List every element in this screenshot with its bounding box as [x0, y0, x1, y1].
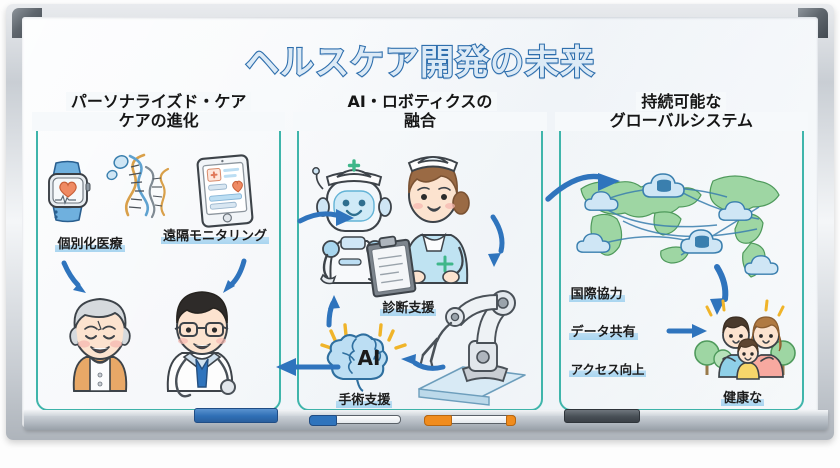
- column-container: パーソナライズド・ケア ケアの進化: [32, 93, 808, 413]
- column-1-heading-line2: ケアの進化: [32, 112, 285, 131]
- label-surgery-support: 手術支援: [336, 393, 392, 408]
- label-data-sharing: データ共有: [569, 325, 638, 340]
- label-remote-monitoring: 遠隔モニタリング: [161, 229, 269, 244]
- column-1-heading-line1: パーソナライズド・ケア: [66, 92, 252, 111]
- ai-brain-text: AI: [358, 346, 381, 370]
- arrow-left-curved-icon: [399, 345, 445, 375]
- elderly-woman-illustration: [54, 291, 146, 395]
- arrow-col2-to-col3-icon: [546, 169, 622, 205]
- label-surgery-support-wrap: 手術支援: [311, 389, 417, 408]
- label-personalized-medicine: 個別化医療: [55, 237, 124, 252]
- column-personalized-care[interactable]: パーソナライズド・ケア ケアの進化: [32, 93, 285, 413]
- label-international-cooperation-wrap: 国際協力: [569, 283, 665, 302]
- arrow-col1-to-col2-icon: [298, 203, 356, 231]
- column-3-heading-line2: グローバルシステム: [555, 112, 808, 131]
- column-1-body: 個別化医療 遠隔モニタリング: [42, 149, 275, 405]
- arrow-col2-to-col1-icon: [274, 353, 340, 379]
- label-access-improvement-wrap: アクセス向上: [569, 359, 679, 378]
- column-2-heading-line2: 融合: [293, 112, 546, 131]
- orange-marker[interactable]: [424, 415, 516, 424]
- arrow-down-curved-icon: [483, 213, 517, 269]
- robot-arm-illustration: [411, 277, 531, 401]
- label-data-sharing-wrap: データ共有: [569, 321, 665, 340]
- smartwatch-heart-icon: [40, 159, 98, 223]
- page-title: ヘルスケア開発の未来: [22, 35, 818, 84]
- family-community-illustration: [693, 301, 797, 391]
- dark-eraser[interactable]: [564, 409, 640, 423]
- label-personalized-medicine-wrap: 個別化医療: [40, 233, 140, 252]
- outcome-line1: 健康な: [721, 391, 764, 406]
- column-sustainable-global[interactable]: 持続可能な グローバルシステム: [555, 93, 808, 413]
- doctor-illustration: [150, 287, 254, 395]
- whiteboard-surface: ヘルスケア開発の未来 パーソナライズド・ケア ケアの進化: [22, 17, 818, 427]
- label-international-cooperation: 国際協力: [569, 287, 625, 302]
- label-access-improvement: アクセス向上: [569, 363, 647, 377]
- blue-eraser[interactable]: [194, 408, 278, 423]
- column-2-heading: AI・ロボティクスの 融合: [293, 93, 546, 131]
- marker-tray: [24, 410, 828, 430]
- column-3-heading: 持続可能な グローバルシステム: [555, 93, 808, 131]
- column-3-heading-line1: 持続可能な: [636, 92, 726, 111]
- whiteboard-frame: ヘルスケア開発の未来 パーソナライズド・ケア ケアの進化: [6, 4, 834, 440]
- whiteboard-infographic: ヘルスケア開発の未来 パーソナライズド・ケア ケアの進化: [0, 0, 840, 468]
- tablet-health-app-icon: [194, 155, 256, 227]
- blue-marker[interactable]: [309, 415, 401, 424]
- arrow-up-icon: [315, 293, 347, 327]
- column-1-heading: パーソナライズド・ケア ケアの進化: [32, 93, 285, 131]
- label-remote-monitoring-wrap: 遠隔モニタリング: [160, 225, 270, 244]
- dna-helix-icon: [104, 153, 176, 223]
- column-2-heading-line1: AI・ロボティクスの: [343, 92, 498, 111]
